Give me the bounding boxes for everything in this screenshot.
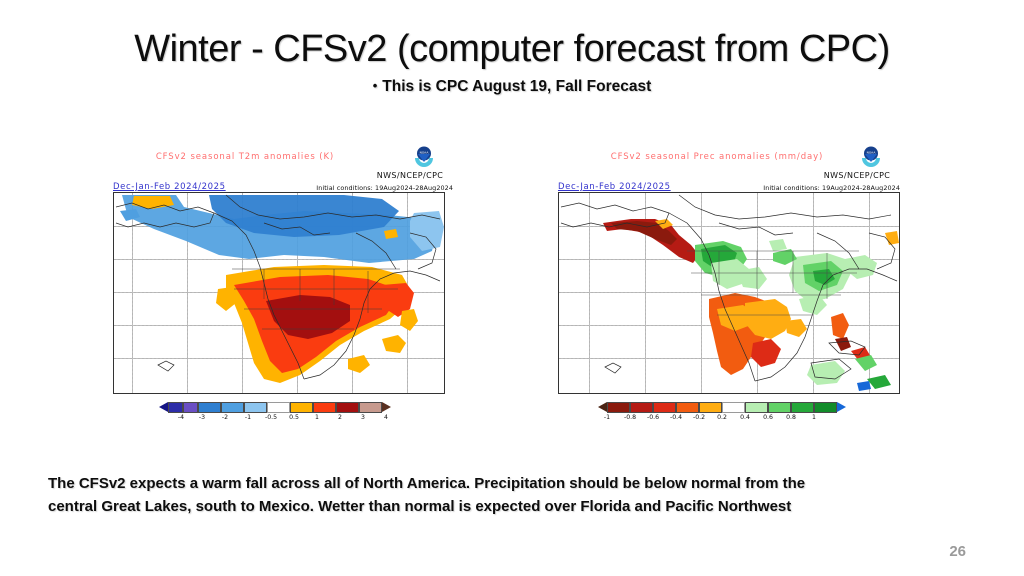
colorbar-tick: -0.2 xyxy=(693,414,705,421)
colorbar-segment xyxy=(768,402,791,413)
caption-line-1: The CFSv2 expects a warm fall across all… xyxy=(48,472,988,495)
colorbar-right-arrow xyxy=(382,402,391,412)
colorbar-segment xyxy=(653,402,676,413)
slide-subtitle-text: This is CPC August 19, Fall Forecast xyxy=(382,78,651,95)
colorbar-tick: 1 xyxy=(812,414,816,421)
colorbar-left-arrow xyxy=(598,402,607,412)
colorbar-tick: -0.8 xyxy=(624,414,636,421)
prec-initial-conditions: Initial conditions: 19Aug2024-28Aug2024 xyxy=(763,184,900,192)
colorbar-segment xyxy=(290,402,313,413)
slide-caption: The CFSv2 expects a warm fall across all… xyxy=(48,472,988,519)
prec-anomaly-figure: CFSv2 seasonal Prec anomalies (mm/day) N… xyxy=(542,140,902,440)
bullet-glyph: • xyxy=(373,78,378,93)
colorbar-tick: 0.2 xyxy=(717,414,727,421)
colorbar-tick: 0.5 xyxy=(289,414,299,421)
colorbar-tick: 1 xyxy=(315,414,319,421)
prec-colorbar: -1 -0.8 -0.6 -0.4 -0.2 0.2 0.4 0.6 0.8 1 xyxy=(542,402,902,432)
colorbar-tick: -0.6 xyxy=(647,414,659,421)
noaa-logo: NOAA xyxy=(411,146,437,170)
warm-anomaly-shading xyxy=(216,265,418,383)
colorbar-tick: -1 xyxy=(245,414,251,421)
page-number: 26 xyxy=(949,543,966,560)
colorbar-segment xyxy=(198,402,221,413)
colorbar-segment xyxy=(313,402,336,413)
colorbar-segment xyxy=(221,402,244,413)
colorbar-right-arrow xyxy=(837,402,846,412)
colorbar-segment xyxy=(183,402,198,413)
colorbar-segment xyxy=(168,402,183,413)
t2m-noaa-credit: NWS/NCEP/CPC xyxy=(365,171,455,180)
svg-text:NOAA: NOAA xyxy=(420,151,430,155)
colorbar-segment-zero xyxy=(722,402,745,413)
dry-anomaly-shading xyxy=(603,219,899,375)
prec-anomaly-field xyxy=(559,193,899,393)
colorbar-tick: 0.8 xyxy=(786,414,796,421)
colorbar-tick: 4 xyxy=(384,414,388,421)
prec-map: 70N 60N 50N 40N 30N 20N 10N 180W 160W 14… xyxy=(558,192,900,394)
t2m-colorbar-swatches xyxy=(159,402,391,413)
colorbar-tick: -3 xyxy=(199,414,205,421)
colorbar-segment xyxy=(814,402,837,413)
svg-text:NOAA: NOAA xyxy=(867,151,877,155)
prec-figure-title: CFSv2 seasonal Prec anomalies (mm/day) xyxy=(552,152,882,162)
caption-line-2: central Great Lakes, south to Mexico. We… xyxy=(48,495,988,518)
colorbar-tick: 2 xyxy=(338,414,342,421)
colorbar-segment xyxy=(699,402,722,413)
colorbar-tick: -4 xyxy=(178,414,184,421)
prec-colorbar-swatches xyxy=(598,402,846,413)
t2m-colorbar-ticks: -4 -3 -2 -1 -0.5 0.5 1 2 3 4 xyxy=(164,414,386,426)
t2m-anomaly-field xyxy=(114,193,444,393)
colorbar-segment xyxy=(244,402,267,413)
noaa-logo: NOAA xyxy=(858,146,884,170)
page-title: Winter - CFSv2 (computer forecast from C… xyxy=(0,28,1024,71)
t2m-anomaly-figure: CFSv2 seasonal T2m anomalies (K) NOAA NW… xyxy=(95,140,455,440)
colorbar-tick: 3 xyxy=(361,414,365,421)
prec-period-label: Dec-Jan-Feb 2024/2025 xyxy=(558,182,671,192)
prec-noaa-credit: NWS/NCEP/CPC xyxy=(812,171,902,180)
colorbar-segment xyxy=(630,402,653,413)
colorbar-segment xyxy=(745,402,768,413)
t2m-map: 70N 60N 50N 40N 30N 20N 10N 180W 160W 14… xyxy=(113,192,445,394)
colorbar-tick: 0.4 xyxy=(740,414,750,421)
colorbar-segment xyxy=(607,402,630,413)
colorbar-left-arrow xyxy=(159,402,168,412)
t2m-colorbar: -4 -3 -2 -1 -0.5 0.5 1 2 3 4 xyxy=(95,402,455,432)
slide-subtitle: •This is CPC August 19, Fall Forecast xyxy=(0,78,1024,96)
colorbar-tick: -0.5 xyxy=(265,414,277,421)
t2m-initial-conditions: Initial conditions: 19Aug2024-28Aug2024 xyxy=(316,184,453,192)
colorbar-segment xyxy=(359,402,382,413)
colorbar-tick: -1 xyxy=(604,414,610,421)
colorbar-tick: -2 xyxy=(222,414,228,421)
prec-colorbar-ticks: -1 -0.8 -0.6 -0.4 -0.2 0.2 0.4 0.6 0.8 1 xyxy=(607,414,837,426)
colorbar-tick: 0.6 xyxy=(763,414,773,421)
colorbar-segment xyxy=(336,402,359,413)
colorbar-segment xyxy=(791,402,814,413)
colorbar-segment xyxy=(676,402,699,413)
colorbar-segment-zero xyxy=(267,402,290,413)
colorbar-tick: -0.4 xyxy=(670,414,682,421)
t2m-period-label: Dec-Jan-Feb 2024/2025 xyxy=(113,182,226,192)
t2m-figure-title: CFSv2 seasonal T2m anomalies (K) xyxy=(95,152,395,162)
